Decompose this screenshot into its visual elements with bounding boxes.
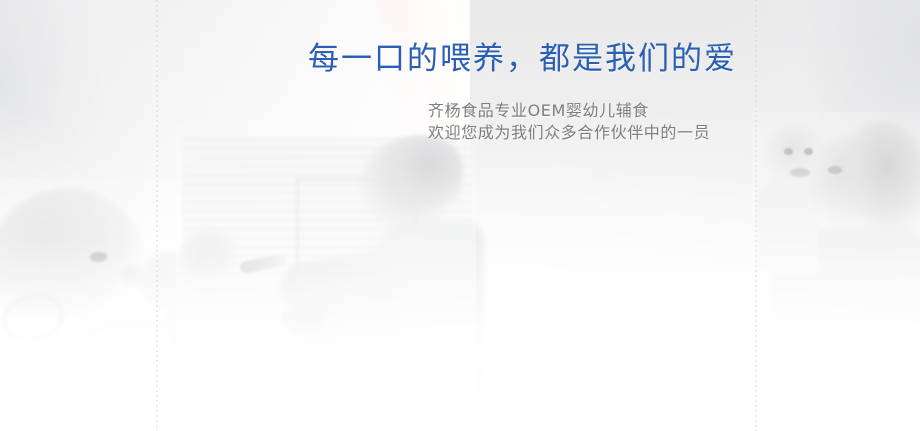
right-mother-hair — [836, 122, 920, 236]
right-mother-eye — [828, 166, 842, 174]
headline-text: 每一口的喂养，都是我们的爱 — [308, 39, 737, 79]
subtitle-line-1: 齐杨食品专业OEM婴幼儿辅食 — [428, 100, 710, 122]
promo-banner: 每一口的喂养，都是我们的爱 齐杨食品专业OEM婴幼儿辅食 欢迎您成为我们众多合作… — [0, 0, 920, 431]
subtitle-line-2: 欢迎您成为我们众多合作伙伴中的一员 — [428, 122, 710, 144]
divider-right — [755, 0, 757, 431]
right-baby-mouth — [790, 168, 810, 177]
background-bottom-fade — [0, 241, 920, 431]
right-baby-eye-right — [804, 148, 813, 155]
right-baby-eye-left — [784, 148, 793, 155]
subtitle-block: 齐杨食品专业OEM婴幼儿辅食 欢迎您成为我们众多合作伙伴中的一员 — [428, 100, 710, 144]
right-baby-head — [764, 124, 828, 190]
divider-left — [156, 0, 158, 431]
center-mother-hair — [374, 136, 462, 212]
